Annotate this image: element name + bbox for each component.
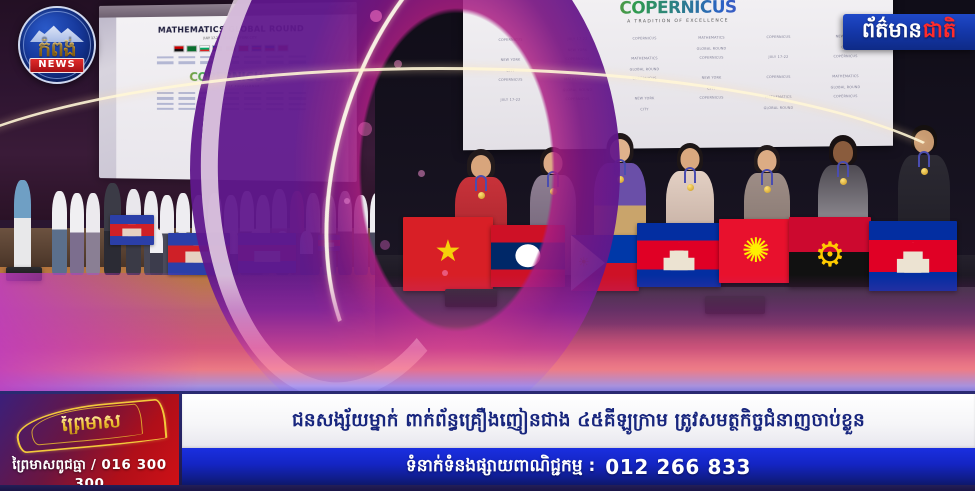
news-photo-area: MATHEMATICS GLOBAL ROUND JULY 17-22, 202… xyxy=(0,0,975,393)
sponsor-caption: ព្រៃមាសពូជធ្មា xyxy=(12,457,86,473)
contact-bar[interactable]: ទំនាក់ទំនងផ្សាយពាណិជ្ជកម្ម : 012 266 833 xyxy=(182,448,975,486)
leaf-emblem-icon: ព្រៃមាស xyxy=(16,400,166,452)
flag-icon xyxy=(186,45,197,52)
headline-panel: ជនសង្ស័យម្នាក់ ពាក់ព័ន្ធគ្រឿងញៀនជាង ៤៥គី… xyxy=(182,394,975,448)
channel-logo[interactable]: កំពង់ NEWS xyxy=(18,6,96,84)
logo-news-ribbon: NEWS xyxy=(29,58,84,74)
contact-label: ទំនាក់ទំនងផ្សាយពាណិជ្ជកម្ម : xyxy=(406,455,595,480)
flag-icon xyxy=(264,45,275,52)
slide-caption-rows xyxy=(116,55,348,64)
badge-text-accent: ជាតិ xyxy=(923,20,956,41)
slide-title: MATHEMATICS GLOBAL ROUND xyxy=(116,24,348,36)
flag-icon xyxy=(225,45,236,52)
slide-subtitle: JULY 17-22, 2025 NEW YORK CITY xyxy=(116,35,348,41)
sponsor-caption-line: ព្រៃមាសពូជធ្មា / 016 300 300 xyxy=(0,456,179,486)
flag-icon xyxy=(277,44,288,51)
sponsor-block[interactable]: ព្រៃមាស ព្រៃមាសពូជធ្មា / 016 300 300 xyxy=(0,394,179,486)
flag-icon xyxy=(212,45,223,52)
category-badge[interactable]: ព័ត៌មាន ជាតិ xyxy=(843,14,975,50)
glow-arc-line xyxy=(0,67,975,367)
flag-icon xyxy=(238,45,249,52)
broadcast-frame: MATHEMATICS GLOBAL ROUND JULY 17-22, 202… xyxy=(0,0,975,491)
sponsor-phone: 016 300 300 xyxy=(75,457,167,486)
badge-text-primary: ព័ត៌មាន xyxy=(862,20,922,41)
slide-flag-strip xyxy=(116,44,348,53)
sponsor-separator: / xyxy=(91,457,97,473)
flag-icon xyxy=(173,45,184,52)
flag-icon xyxy=(251,45,262,52)
contact-number: 012 266 833 xyxy=(605,455,751,479)
headline-text: ជនសង្ស័យម្នាក់ ពាក់ព័ន្ធគ្រឿងញៀនជាង ៤៥គី… xyxy=(284,411,873,431)
flag-icon xyxy=(199,45,210,52)
lower-third-foot xyxy=(0,485,975,491)
lower-third: ព្រៃមាស ព្រៃមាសពូជធ្មា / 016 300 300 ជនស… xyxy=(0,391,975,491)
